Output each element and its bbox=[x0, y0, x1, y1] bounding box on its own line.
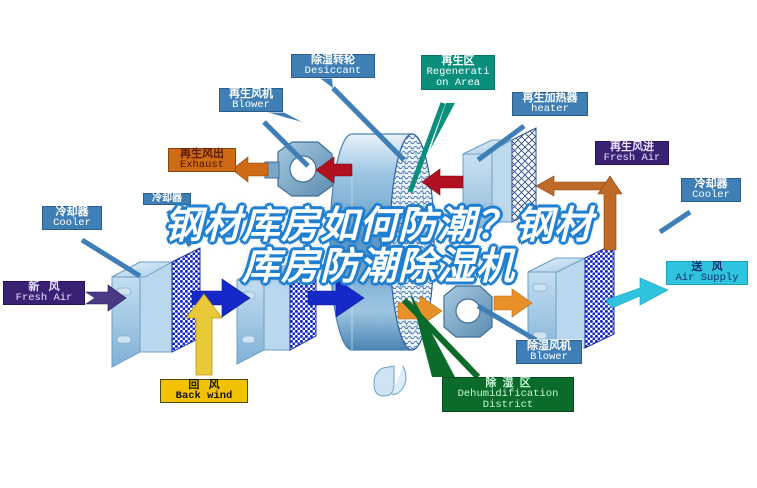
label-dehumidifier-blower[interactable]: 除湿风机Blower bbox=[516, 340, 582, 364]
label-desiccant-rotor[interactable]: 除湿转轮Desiccant bbox=[291, 54, 375, 78]
label-back-wind[interactable]: 回 风Back wind bbox=[160, 379, 248, 403]
label-cooler-mid[interactable]: 冷却器 bbox=[143, 193, 191, 205]
label-regeneration-heater[interactable]: 再生加热器heater bbox=[512, 92, 588, 116]
label-fresh-air[interactable]: 新 风Fresh Air bbox=[3, 281, 85, 305]
label-cooler-left[interactable]: 冷却器Cooler bbox=[42, 206, 102, 230]
svg-text:X1: X1 bbox=[372, 313, 385, 325]
diagram-canvas: X1 bbox=[0, 0, 757, 488]
dry-air-arrow-2 bbox=[494, 289, 532, 317]
exhaust-arrow bbox=[232, 157, 268, 182]
supply-air-arrow bbox=[606, 278, 668, 308]
label-regeneration-area[interactable]: 再生区Regenerati on Area bbox=[421, 55, 495, 90]
label-dehumidification-district[interactable]: 除 湿 区Dehumidification District bbox=[442, 377, 574, 412]
label-air-supply[interactable]: 送 风Air Supply bbox=[666, 261, 748, 285]
label-regeneration-intake[interactable]: 再生风进Fresh Air bbox=[595, 141, 669, 165]
dehumidifier-schematic-artwork: X1 bbox=[0, 0, 757, 488]
label-regeneration-blower[interactable]: 再生风机Blower bbox=[219, 88, 283, 112]
label-cooler-right[interactable]: 冷却器Cooler bbox=[681, 178, 741, 202]
label-exhaust[interactable]: 再生风出Exhaust bbox=[168, 148, 236, 172]
cooler-unit-mid bbox=[237, 253, 316, 364]
